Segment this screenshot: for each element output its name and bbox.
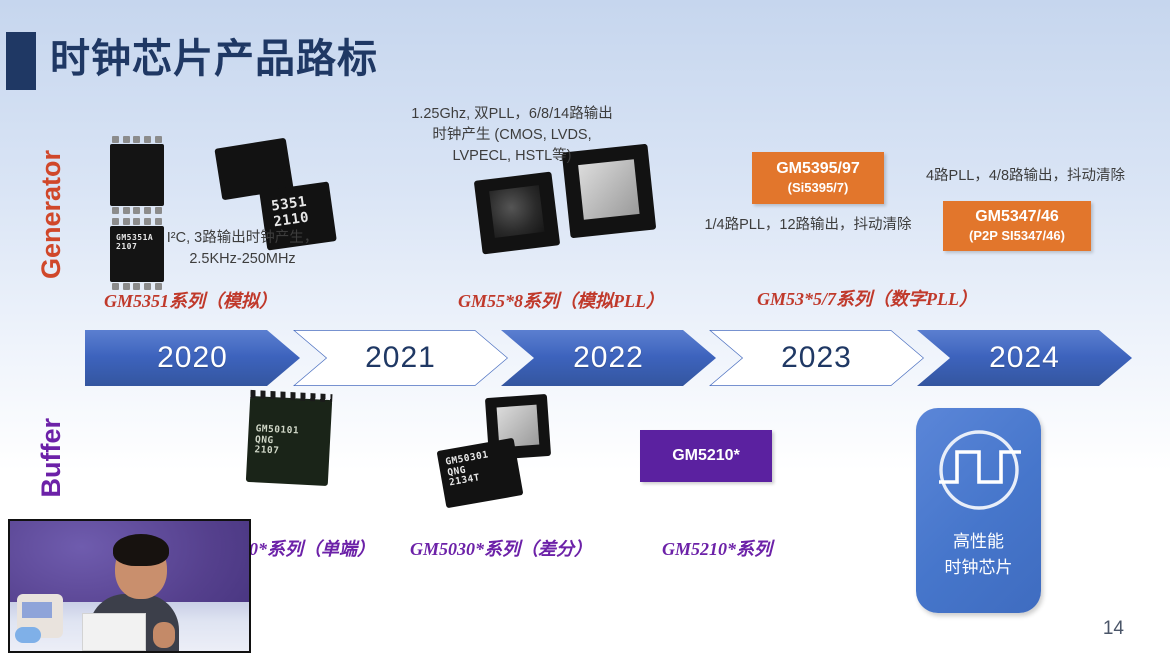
page-title: 时钟芯片产品路标 — [50, 36, 378, 82]
note-gm5347-spec: 4路PLL，4/8路输出，抖动清除 — [908, 166, 1143, 187]
product-box-gm5395[interactable]: GM5395/97 (Si5395/7) — [752, 152, 884, 204]
note-gm55x8-spec: 1.25Ghz, 双PLL，6/8/14路输出 时钟产生 (CMOS, LVDS… — [382, 104, 642, 167]
timeline-chevron-2024[interactable]: 2024 — [917, 330, 1132, 386]
caption-gm5030-series: GM5030*系列（差分） — [410, 535, 592, 561]
chip-image-soic-top — [110, 144, 164, 206]
page-number: 14 — [1103, 618, 1124, 640]
timeline-year-2022: 2022 — [573, 341, 644, 375]
product-box-gm5347-sub: (P2P SI5347/46) — [969, 228, 1065, 244]
badge-line-2: 时钟芯片 — [945, 555, 1013, 581]
timeline-chevron-2021[interactable]: 2021 — [293, 330, 508, 386]
timeline-year-2020: 2020 — [157, 341, 228, 375]
presenter-video-overlay[interactable] — [8, 519, 251, 653]
title-accent-bar — [6, 32, 36, 90]
note-gm5351-spec: I²C, 3路输出时钟产生， 2.5KHz-250MHz — [160, 228, 325, 270]
section-label-buffer: Buffer — [36, 418, 67, 498]
product-box-gm5395-title: GM5395/97 — [776, 160, 860, 178]
product-box-gm5210[interactable]: GM5210* — [640, 430, 772, 482]
chip-image-qfn-hex — [474, 172, 560, 255]
product-box-gm5395-sub: (Si5395/7) — [788, 180, 849, 196]
note-gm5395-spec: 1/4路PLL，12路输出，抖动清除 — [694, 215, 922, 236]
timeline-chevron-2023[interactable]: 2023 — [709, 330, 924, 386]
timeline-roadmap: 2020 2021 2022 2023 2024 — [85, 330, 1155, 386]
timeline-year-2021: 2021 — [365, 341, 436, 375]
video-equipment-screen — [22, 602, 52, 618]
chip-image-soic-labeled: GM5351A 2107 — [110, 226, 164, 282]
highlight-badge-clock-chip[interactable]: 高性能 时钟芯片 — [916, 408, 1041, 613]
timeline-chevron-2022[interactable]: 2022 — [501, 330, 716, 386]
section-label-generator: Generator — [36, 150, 67, 279]
caption-gm55x8-series: GM55*8系列（模拟PLL） — [458, 287, 664, 313]
video-person-hand — [153, 622, 175, 648]
product-box-gm5210-label: GM5210* — [672, 447, 740, 465]
timeline-year-2023: 2023 — [781, 341, 852, 375]
caption-gm5351-series: GM5351系列（模拟） — [104, 287, 277, 313]
chip-image-gm50101: GM50101 QNG 2107 — [246, 396, 332, 486]
video-person-hair — [113, 534, 169, 566]
video-glove — [15, 627, 41, 643]
chip-image-gm50301: GM50301 QNG 2134T — [437, 438, 524, 509]
chip-marking-soic: GM5351A 2107 — [116, 234, 153, 252]
clock-waveform-icon — [927, 420, 1031, 529]
caption-gm53x57-series: GM53*5/7系列（数字PLL） — [757, 285, 977, 311]
video-product-box — [82, 613, 146, 651]
caption-gm5210-series: GM5210*系列 — [662, 535, 772, 561]
timeline-chevron-2020[interactable]: 2020 — [85, 330, 300, 386]
product-box-gm5347[interactable]: GM5347/46 (P2P SI5347/46) — [943, 201, 1091, 251]
product-box-gm5347-title: GM5347/46 — [975, 208, 1059, 226]
chip-marking-qfn-5351: 5351 2110 — [270, 195, 310, 231]
slide-canvas: 时钟芯片产品路标 Generator Buffer GM5351A 2107 5… — [0, 0, 1170, 654]
timeline-year-2024: 2024 — [989, 341, 1060, 375]
chip-marking-gm50101: GM50101 QNG 2107 — [254, 424, 299, 458]
badge-line-1: 高性能 — [953, 529, 1004, 555]
